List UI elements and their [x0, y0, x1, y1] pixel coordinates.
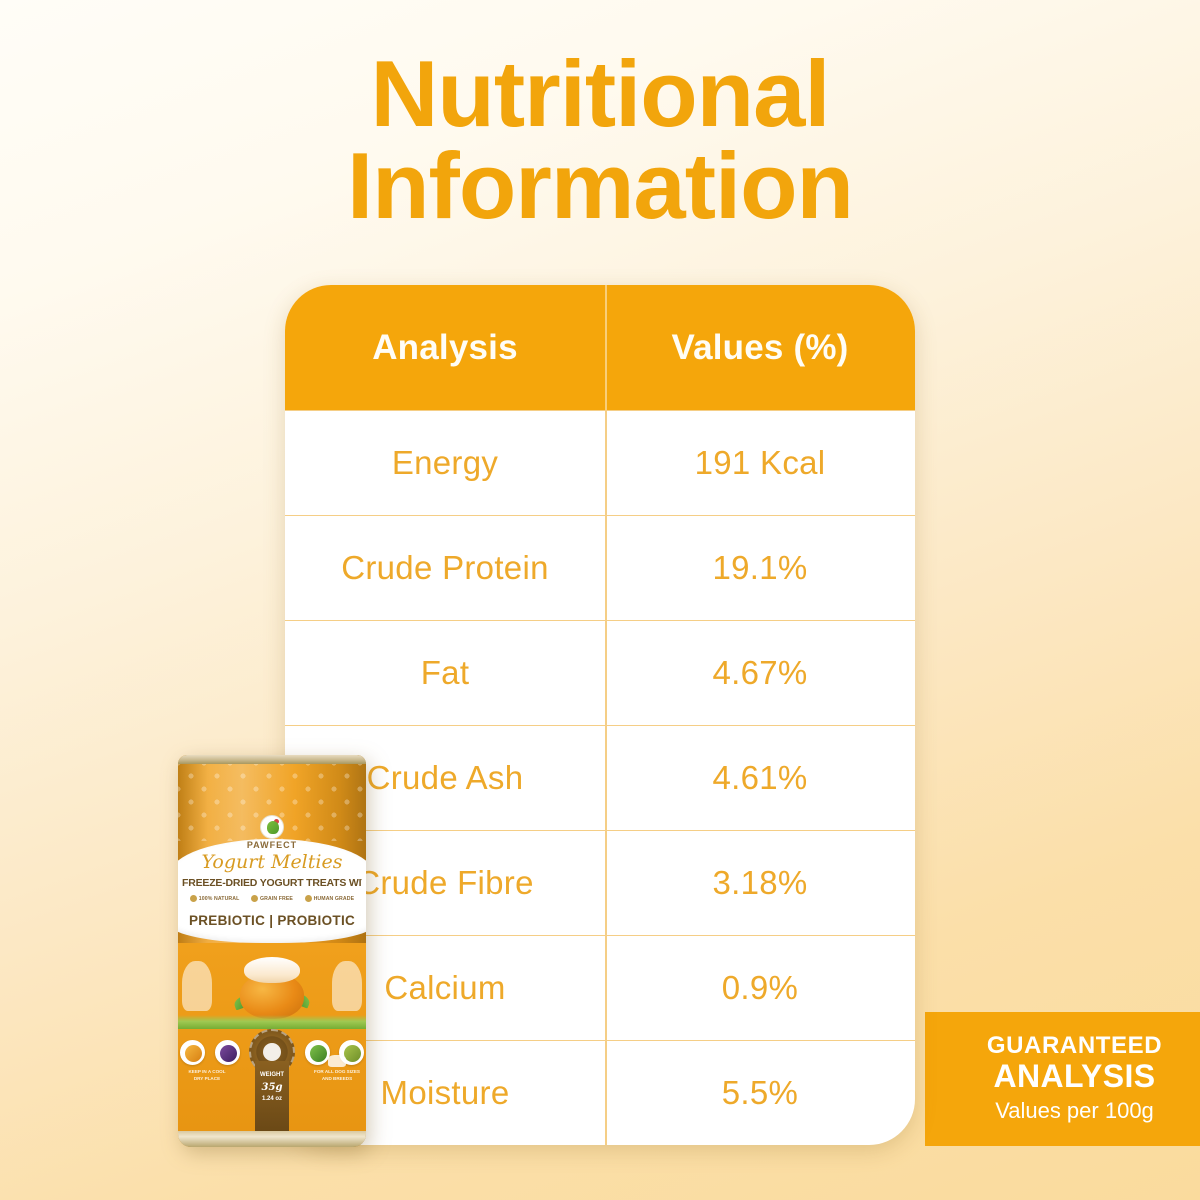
human-grade-icon: [305, 895, 312, 902]
grass-strip: [178, 1015, 366, 1029]
table-body: Energy 191 Kcal Crude Protein 19.1% Fat …: [285, 410, 915, 1145]
table-row: Energy 191 Kcal: [285, 410, 915, 515]
table-row: Crude Fibre 3.18%: [285, 830, 915, 935]
table-row: Calcium 0.9%: [285, 935, 915, 1040]
column-header-analysis: Analysis: [285, 328, 605, 368]
storage-note: KEEP IN A COOL DRY PLACE: [184, 1069, 230, 1083]
cell-value: 4.61%: [605, 759, 915, 797]
cell-analysis: Fat: [285, 654, 605, 692]
column-header-values: Values (%): [605, 328, 915, 368]
prebiotic-probiotic-label: PREBIOTIC | PROBIOTIC: [178, 913, 366, 928]
column-divider: [605, 410, 607, 1145]
page-title: Nutritional Information: [0, 48, 1200, 232]
feature-badge: HUMAN GRADE: [305, 895, 355, 902]
cell-value: 0.9%: [605, 969, 915, 1007]
feature-badge: GRAIN FREE: [251, 895, 293, 902]
header-column-divider: [605, 285, 607, 410]
table-row: Fat 4.67%: [285, 620, 915, 725]
product-name: Yogurt Melties: [178, 851, 366, 873]
nutrition-table-card: Analysis Values (%) Energy 191 Kcal Crud…: [285, 285, 915, 1145]
weight-value: 35g: [255, 1080, 289, 1095]
cell-analysis: Energy: [285, 444, 605, 482]
table-row: Crude Ash 4.61%: [285, 725, 915, 830]
table-header-row: Analysis Values (%): [285, 285, 915, 410]
natural-icon: [190, 895, 197, 902]
weight-alt: 1.24 oz: [255, 1095, 289, 1104]
leaf-logo-icon: [260, 815, 284, 839]
cell-value: 19.1%: [605, 549, 915, 587]
grain-free-icon: [251, 895, 258, 902]
weight-block: WEIGHT 35g 1.24 oz: [255, 1071, 289, 1104]
can-weight-strip: WEIGHT 35g 1.24 oz: [255, 1061, 289, 1131]
dog-silhouette-right-icon: [332, 961, 362, 1011]
guaranteed-analysis-badge: GUARANTEED ANALYSIS Values per 100g: [925, 1012, 1200, 1146]
page-title-line-2: Information: [0, 140, 1200, 232]
dog-breed-icon: [328, 1055, 346, 1067]
yogurt-swirl: [244, 957, 300, 983]
product-tagline: FREEZE-DRIED YOGURT TREATS WITH PUMPKIN: [182, 877, 362, 889]
breed-note: FOR ALL DOG SIZES AND BREEDS: [314, 1069, 360, 1083]
can-top-rim: [178, 755, 366, 764]
cell-value: 191 Kcal: [605, 444, 915, 482]
cell-analysis: Crude Protein: [285, 549, 605, 587]
ingredient-blueberry-icon: [215, 1040, 240, 1065]
feature-badges: 100% NATURAL GRAIN FREE HUMAN GRADE: [184, 895, 360, 902]
can-body: PAWFECT Yogurt Melties FREEZE-DRIED YOGU…: [178, 755, 366, 1147]
badge-line-values-per: Values per 100g: [995, 1096, 1154, 1126]
ingredient-pumpkin-icon: [180, 1040, 205, 1065]
feature-badge: 100% NATURAL: [190, 895, 240, 902]
feature-label: 100% NATURAL: [199, 896, 240, 902]
can-illustration-area: KEEP IN A COOL DRY PLACE FOR ALL DOG SIZ…: [178, 943, 366, 1131]
cell-value: 5.5%: [605, 1074, 915, 1112]
badge-line-guaranteed: GUARANTEED: [987, 1033, 1162, 1059]
brand-logo: PAWFECT: [178, 815, 366, 850]
brand-logo-text: PAWFECT: [178, 840, 366, 850]
table-row: Crude Protein 19.1%: [285, 515, 915, 620]
badge-line-analysis: ANALYSIS: [993, 1059, 1155, 1094]
dog-silhouette-left-icon: [182, 961, 212, 1011]
ingredient-spinach-icon: [305, 1040, 330, 1065]
weight-label: WEIGHT: [255, 1071, 289, 1080]
cell-value: 4.67%: [605, 654, 915, 692]
page-title-line-1: Nutritional: [0, 48, 1200, 140]
feature-label: HUMAN GRADE: [314, 896, 355, 902]
table-row: Moisture 5.5%: [285, 1040, 915, 1145]
pumpkin-illustration: [236, 957, 308, 1021]
product-can-image: PAWFECT Yogurt Melties FREEZE-DRIED YOGU…: [178, 755, 366, 1147]
cell-value: 3.18%: [605, 864, 915, 902]
can-bottom-rim: [178, 1131, 366, 1147]
feature-label: GRAIN FREE: [260, 896, 293, 902]
